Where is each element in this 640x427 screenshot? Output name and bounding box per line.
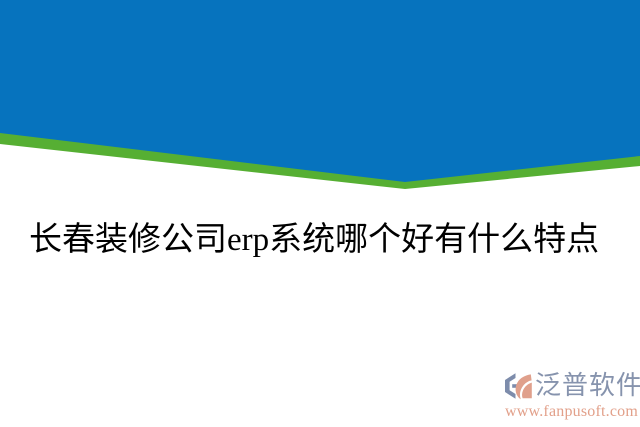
header-banner xyxy=(0,0,640,200)
brand-name-label: 泛普软件 xyxy=(535,370,640,400)
banner-blue-chevron xyxy=(0,0,640,182)
brand-url-label: www.fanpusoft.com xyxy=(505,402,638,422)
page-root: 长春装修公司erp系统哪个好有什么特点 泛普软件 www.fanpusoft.c… xyxy=(0,0,640,427)
fanpu-f-mark-glyph xyxy=(502,371,534,401)
brand-logo[interactable]: 泛普软件 www.fanpusoft.com xyxy=(502,368,640,422)
header-banner-shape xyxy=(0,0,640,200)
fanpu-f-mark-icon xyxy=(502,371,534,401)
page-title: 长春装修公司erp系统哪个好有什么特点 xyxy=(29,217,629,263)
